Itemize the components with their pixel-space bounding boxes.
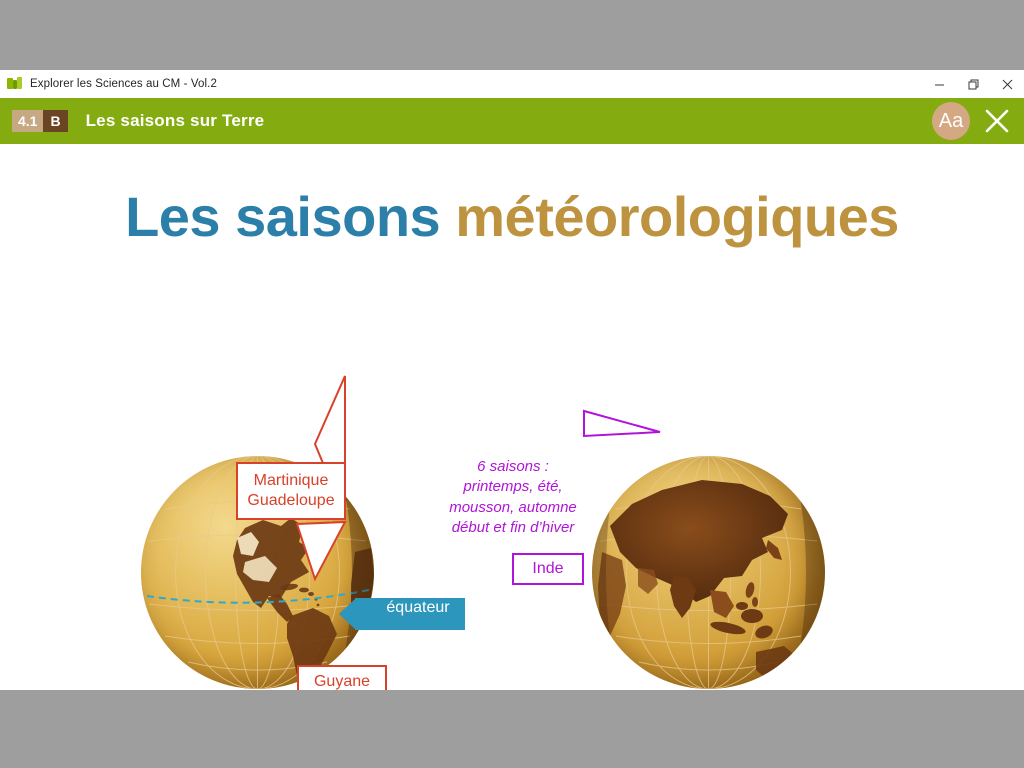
callout-equateur[interactable]: équateur: [355, 598, 465, 630]
app-icon: [7, 77, 23, 91]
callout-martinique-line1: Martinique: [254, 471, 329, 491]
callout-equateur-label: équateur: [386, 598, 449, 618]
slide-title-part2: météorologiques: [455, 185, 899, 248]
annotation-six-saisons-line4: début et fin d’hiver: [425, 518, 601, 538]
lesson-header: 4.1 B Les saisons sur Terre Aa: [0, 98, 1024, 144]
close-lesson-icon[interactable]: [980, 104, 1014, 138]
annotation-six-saisons-line2: printemps, été,: [425, 477, 601, 497]
font-size-button[interactable]: Aa: [932, 102, 970, 140]
callout-martinique-line2: Guadeloupe: [247, 491, 334, 511]
equateur-arrow-icon: [339, 598, 356, 630]
lesson-title: Les saisons sur Terre: [86, 111, 265, 131]
annotation-six-saisons-line3: mousson, automne: [425, 498, 601, 518]
callout-inde[interactable]: Inde: [512, 553, 584, 585]
restore-icon[interactable]: [956, 70, 990, 98]
callout-inde-label: Inde: [532, 559, 563, 579]
callout-guyane[interactable]: Guyane: [297, 665, 387, 690]
slide-title: Les saisons météorologiques: [0, 184, 1024, 249]
close-icon[interactable]: [990, 70, 1024, 98]
window-title-bar: Explorer les Sciences au CM - Vol.2: [0, 70, 1024, 98]
lesson-number: 4.1: [12, 110, 43, 132]
lesson-letter: B: [43, 110, 67, 132]
globe-asia: [592, 456, 825, 689]
slide-content: Les saisons météorologiques: [0, 144, 1024, 690]
annotation-six-saisons: 6 saisons : printemps, été, mousson, aut…: [425, 457, 601, 538]
annotation-six-saisons-line1: 6 saisons :: [425, 457, 601, 477]
slide-title-part1: Les saisons: [125, 185, 455, 248]
window-title: Explorer les Sciences au CM - Vol.2: [30, 78, 217, 90]
header-actions: Aa: [932, 102, 1014, 140]
lesson-badge: 4.1 B: [12, 110, 68, 132]
callout-martinique-guadeloupe[interactable]: Martinique Guadeloupe: [236, 462, 346, 520]
window-controls: [922, 70, 1024, 98]
minimize-icon[interactable]: [922, 70, 956, 98]
callout-guyane-label: Guyane: [314, 672, 370, 691]
app-window: Explorer les Sciences au CM - Vol.2 4.: [0, 0, 1024, 768]
